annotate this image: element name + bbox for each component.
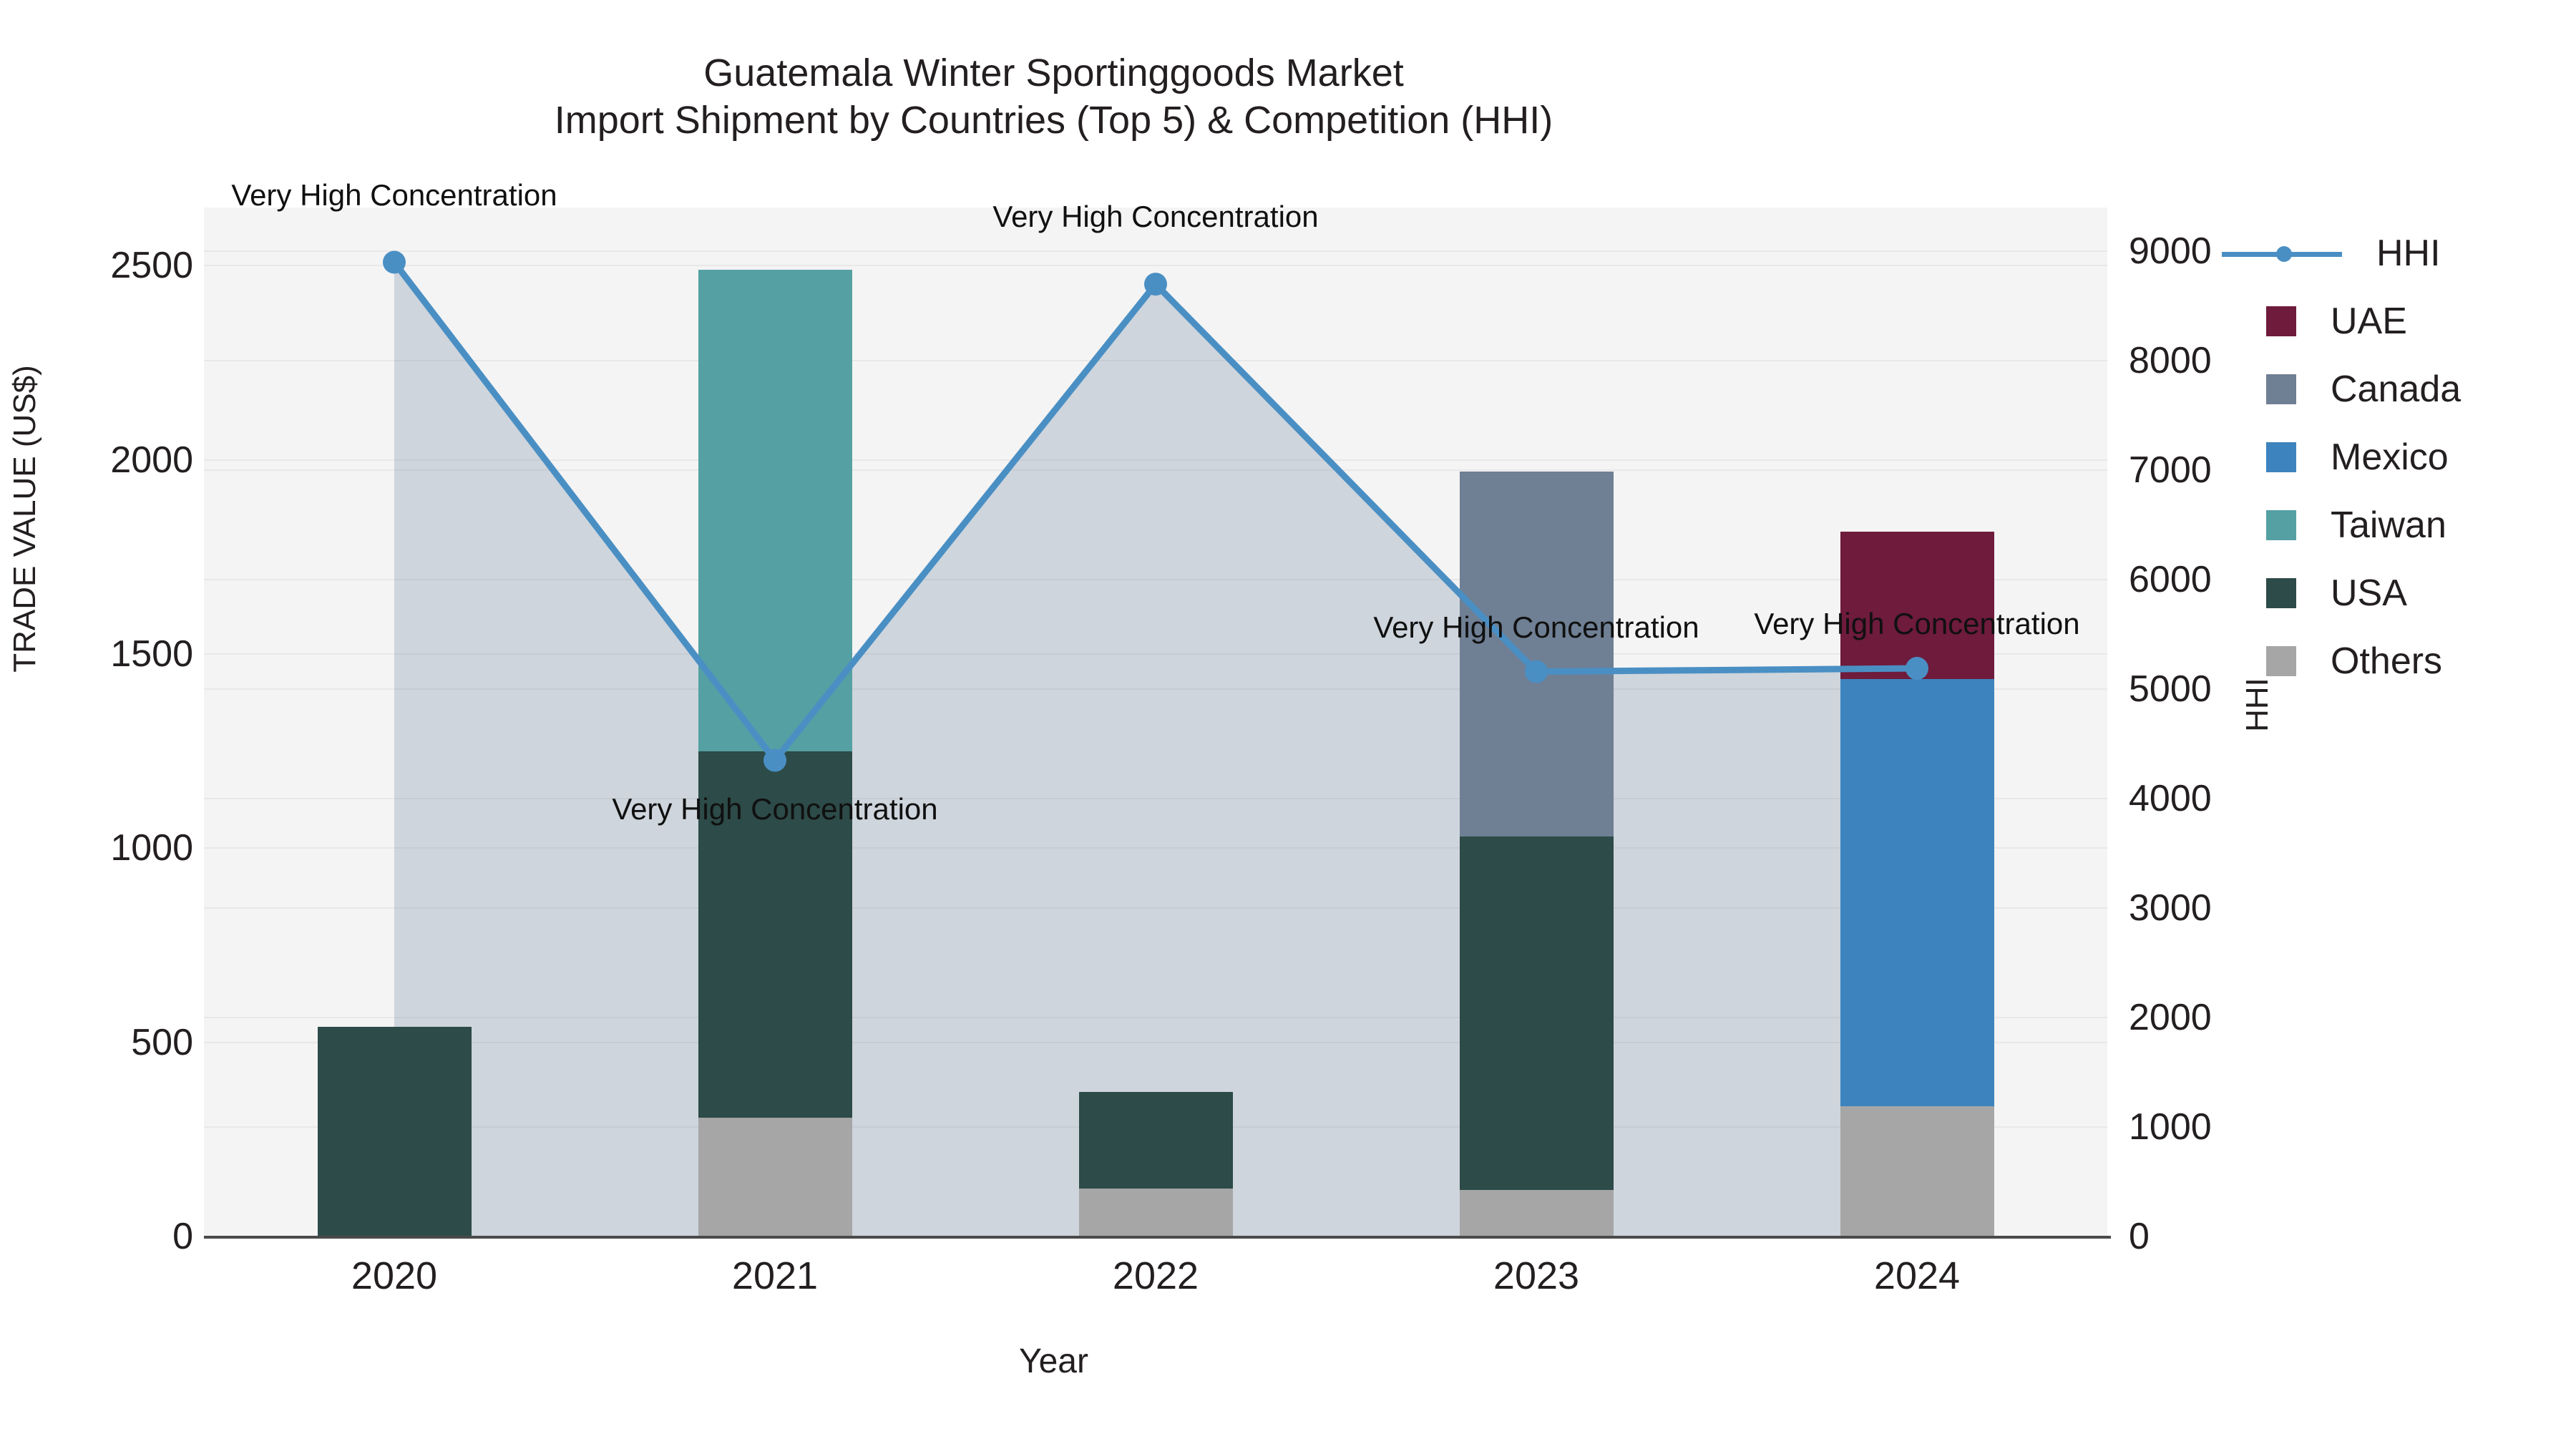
y-tick-left: 2500 [14,244,193,287]
legend-swatch [2266,578,2296,608]
gridline [204,653,2107,655]
chart-title-line2: Import Shipment by Countries (Top 5) & C… [0,97,2107,145]
legend-item-uae[interactable]: UAE [2222,297,2565,346]
y-tick-right: 1000 [2129,1106,2315,1148]
y-tick-left: 0 [14,1215,193,1258]
chart-root: Guatemala Winter Sportinggoods Market Im… [0,0,2576,1449]
x-tick-2022: 2022 [1013,1254,1299,1298]
annotation-label: Very High Concentration [1754,607,2079,641]
chart-title: Guatemala Winter Sportinggoods Market Im… [0,50,2107,145]
hhi-line-series [204,208,2107,1236]
y-tick-left: 1000 [14,826,193,869]
legend-label: HHI [2376,232,2441,275]
y-tick-right: 2000 [2129,996,2315,1039]
y-tick-right: 4000 [2129,777,2315,820]
gridline [204,360,2107,361]
annotation-label: Very High Concentration [231,178,557,213]
bar-segment-others[interactable] [1460,1190,1614,1236]
annotation-label: Very High Concentration [992,200,1318,234]
hhi-area-fill [204,208,2107,1236]
legend-item-canada[interactable]: Canada [2222,365,2565,414]
legend-label: Taiwan [2331,504,2446,547]
legend-swatch [2266,646,2296,676]
legend-label: USA [2331,572,2407,615]
annotation-label: Very High Concentration [612,792,937,826]
bar-segment-uae[interactable] [1840,532,1994,679]
gridline [204,1042,2107,1043]
gridline [204,579,2107,580]
x-tick-2023: 2023 [1393,1254,1679,1298]
legend-label: UAE [2331,300,2407,343]
x-tick-2020: 2020 [251,1254,537,1298]
gridline [204,847,2107,849]
y-axis-left-label: TRADE VALUE (US$) [7,304,43,733]
gridline [204,798,2107,799]
bar-segment-usa[interactable] [1460,836,1614,1190]
legend-line-marker [2222,238,2342,268]
legend-swatch [2266,442,2296,472]
legend-swatch [2266,306,2296,336]
legend-swatch [2266,510,2296,540]
gridline [204,265,2107,266]
bar-segment-others[interactable] [1840,1106,1994,1236]
bar-segment-mexico[interactable] [1840,679,1994,1106]
legend-item-mexico[interactable]: Mexico [2222,433,2565,482]
x-tick-2021: 2021 [632,1254,918,1298]
legend-swatch [2266,374,2296,404]
bar-segment-others[interactable] [698,1118,852,1236]
y-tick-left: 500 [14,1021,193,1064]
chart-title-line1: Guatemala Winter Sportinggoods Market [0,50,2107,97]
legend-label: Canada [2331,368,2461,411]
x-tick-2024: 2024 [1774,1254,2060,1298]
bar-segment-taiwan[interactable] [698,270,852,751]
gridline [204,688,2107,690]
gridline [204,250,2107,252]
legend-item-usa[interactable]: USA [2222,569,2565,618]
plot-area: Very High ConcentrationVery High Concent… [204,208,2107,1236]
bar-segment-canada[interactable] [1460,472,1614,836]
legend-label: Mexico [2331,436,2449,479]
annotation-label: Very High Concentration [1373,610,1699,645]
gridline [204,459,2107,461]
x-axis-line [204,1236,2111,1239]
y-tick-right: 3000 [2129,887,2315,930]
chart-legend: HHIUAECanadaMexicoTaiwanUSAOthers [2222,229,2565,705]
bar-segment-usa[interactable] [318,1027,472,1236]
gridline [204,469,2107,471]
bar-segment-usa[interactable] [1079,1092,1233,1189]
legend-item-others[interactable]: Others [2222,637,2565,686]
bar-segment-others[interactable] [1079,1189,1233,1236]
gridline [204,1017,2107,1018]
x-axis-label: Year [0,1342,2107,1381]
gridline [204,907,2107,909]
legend-item-taiwan[interactable]: Taiwan [2222,501,2565,550]
y-tick-right: 0 [2129,1215,2315,1258]
legend-item-hhi[interactable]: HHI [2222,229,2565,278]
legend-label: Others [2331,640,2442,683]
